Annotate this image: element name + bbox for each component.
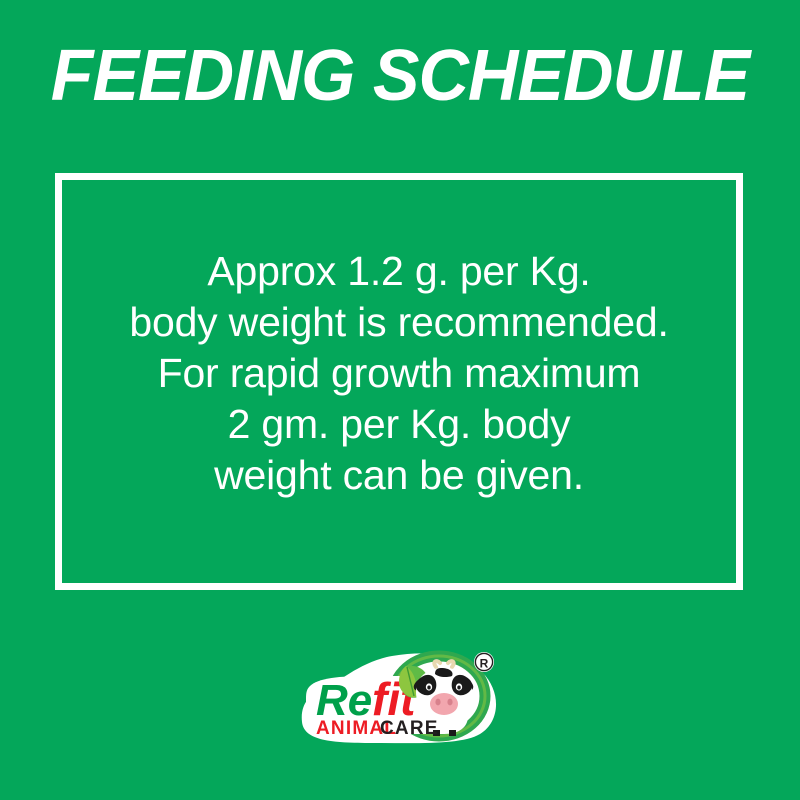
instruction-frame: Approx 1.2 g. per Kg. body weight is rec… — [55, 173, 743, 590]
svg-text:R: R — [480, 657, 489, 671]
instruction-line-5: weight can be given. — [62, 450, 736, 501]
page-title: FEEDING SCHEDULE — [12, 40, 788, 112]
registered-trademark-icon: R — [474, 652, 494, 672]
instruction-line-2: body weight is recommended. — [62, 297, 736, 348]
instruction-text-block: Approx 1.2 g. per Kg. body weight is rec… — [62, 246, 736, 501]
poster-canvas: FEEDING SCHEDULE Approx 1.2 g. per Kg. b… — [0, 0, 800, 800]
instruction-line-1: Approx 1.2 g. per Kg. — [62, 246, 736, 297]
logo-tagline-care: CARE — [380, 718, 439, 739]
brand-logo: Re fit — [296, 650, 508, 746]
instruction-line-4: 2 gm. per Kg. body — [62, 399, 736, 450]
instruction-line-3: For rapid growth maximum — [62, 348, 736, 399]
